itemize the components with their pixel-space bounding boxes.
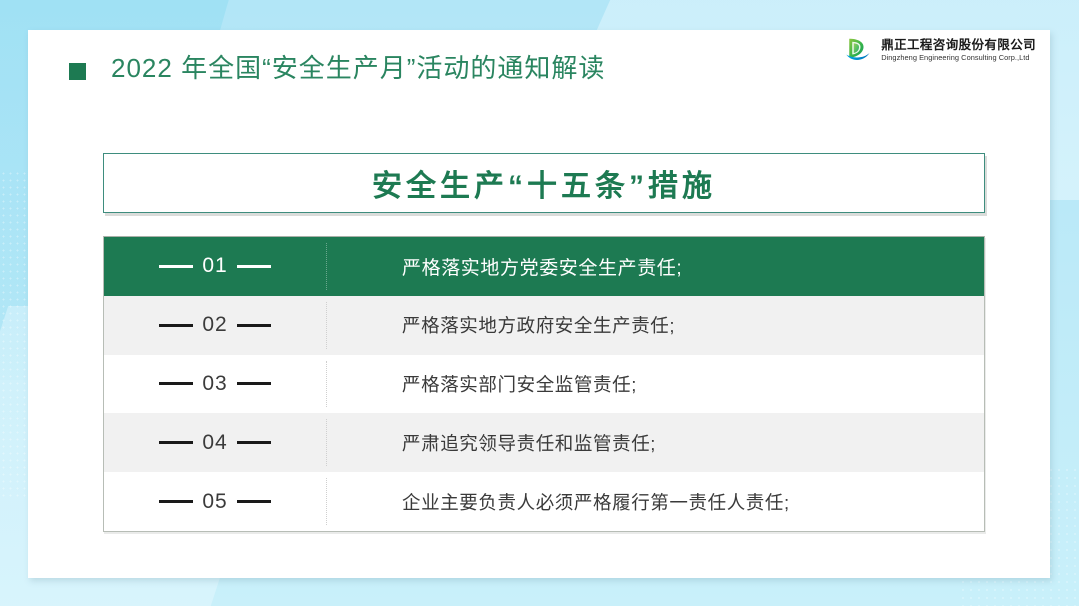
measure-number-cell: 05 xyxy=(104,472,326,531)
dash-right-icon xyxy=(237,265,271,269)
dash-right-icon xyxy=(237,500,271,503)
section-heading-box: 安全生产“十五条”措施 xyxy=(103,153,985,213)
measure-text: 企业主要负责人必须严格履行第一责任人责任; xyxy=(402,489,790,515)
measure-text-cell: 严格落实地方政府安全生产责任; xyxy=(326,296,984,355)
measure-text-cell: 严肃追究领导责任和监管责任; xyxy=(326,413,984,472)
dash-right-icon xyxy=(237,324,271,327)
dash-left-icon xyxy=(159,324,193,327)
table-row[interactable]: 03严格落实部门安全监管责任; xyxy=(104,355,984,414)
measure-number: 04 xyxy=(202,431,227,455)
slide-card: 2022 年全国“安全生产月”活动的通知解读 xyxy=(28,30,1050,578)
dash-left-icon xyxy=(159,500,193,503)
measure-text: 严格落实地方政府安全生产责任; xyxy=(402,312,675,338)
measure-number-cell: 02 xyxy=(104,296,326,355)
measures-table: 01严格落实地方党委安全生产责任;02严格落实地方政府安全生产责任;03严格落实… xyxy=(103,236,985,532)
measure-number: 02 xyxy=(202,313,227,337)
dash-left-icon xyxy=(159,441,193,444)
measure-number: 05 xyxy=(202,490,227,514)
dash-left-icon xyxy=(159,382,193,385)
measure-text: 严肃追究领导责任和监管责任; xyxy=(402,430,656,456)
company-logo: 鼎正工程咨询股份有限公司 Dingzheng Engineering Consu… xyxy=(844,35,1036,65)
section-heading-text: 安全生产“十五条”措施 xyxy=(372,161,716,205)
measure-text-cell: 严格落实地方党委安全生产责任; xyxy=(326,237,984,296)
measure-number: 01 xyxy=(202,254,227,278)
measure-number-cell: 04 xyxy=(104,413,326,472)
table-row[interactable]: 02严格落实地方政府安全生产责任; xyxy=(104,296,984,355)
dash-right-icon xyxy=(237,441,271,444)
measure-number-cell: 01 xyxy=(104,237,326,296)
dash-left-icon xyxy=(159,265,193,269)
page-title: 2022 年全国“安全生产月”活动的通知解读 xyxy=(111,48,605,85)
measure-text: 严格落实地方党委安全生产责任; xyxy=(402,253,682,280)
table-row[interactable]: 01严格落实地方党委安全生产责任; xyxy=(104,237,984,296)
measure-text-cell: 严格落实部门安全监管责任; xyxy=(326,355,984,414)
square-bullet-icon xyxy=(69,63,86,80)
table-row[interactable]: 05企业主要负责人必须严格履行第一责任人责任; xyxy=(104,472,984,531)
measure-number: 03 xyxy=(202,372,227,396)
measure-number-cell: 03 xyxy=(104,355,326,414)
company-name-en: Dingzheng Engineering Consulting Corp.,L… xyxy=(881,54,1036,62)
company-logo-text: 鼎正工程咨询股份有限公司 Dingzheng Engineering Consu… xyxy=(881,39,1036,62)
measure-text-cell: 企业主要负责人必须严格履行第一责任人责任; xyxy=(326,472,984,531)
dingzheng-leaf-logo-icon xyxy=(844,35,874,65)
company-name-cn: 鼎正工程咨询股份有限公司 xyxy=(881,39,1036,52)
slide-header: 2022 年全国“安全生产月”活动的通知解读 xyxy=(28,30,1050,106)
dash-right-icon xyxy=(237,382,271,385)
measure-text: 严格落实部门安全监管责任; xyxy=(402,371,637,397)
table-row[interactable]: 04严肃追究领导责任和监管责任; xyxy=(104,413,984,472)
